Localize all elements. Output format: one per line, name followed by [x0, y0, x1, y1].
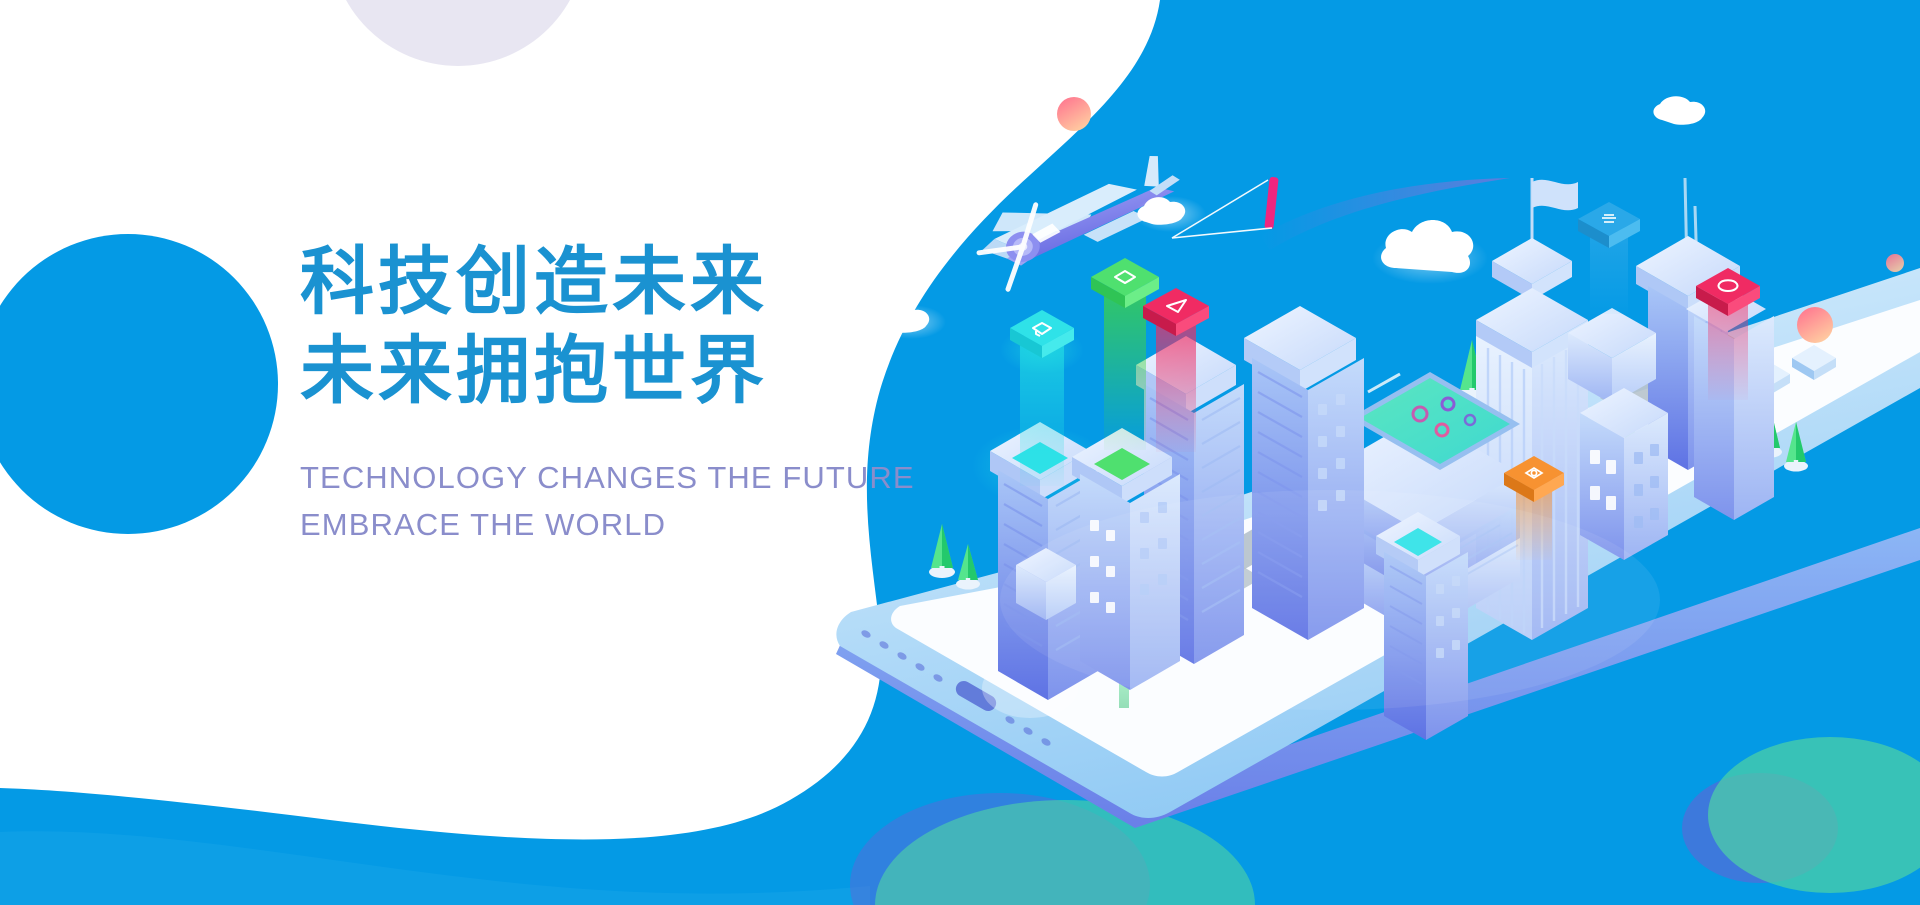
balloon-top	[1057, 97, 1091, 131]
headline-line-2: 未来拥抱世界	[300, 327, 920, 416]
marker-beam	[1156, 320, 1196, 452]
marker-beam	[1104, 292, 1146, 450]
flag	[1532, 180, 1578, 211]
subtitle-line-1: TECHNOLOGY CHANGES THE FUTURE	[300, 454, 920, 501]
building-stepped-right	[1568, 308, 1668, 560]
hero-text-block: 科技创造未来 未来拥抱世界 TECHNOLOGY CHANGES THE FUT…	[300, 238, 920, 548]
banner-stage: 科技创造未来 未来拥抱世界 TECHNOLOGY CHANGES THE FUT…	[0, 0, 1920, 905]
balloon-right	[1797, 307, 1833, 343]
subtitle-line-2: EMBRACE THE WORLD	[300, 501, 920, 548]
city-base-glow	[1000, 490, 1660, 710]
cloud-mid	[1134, 196, 1206, 232]
headline-line-1: 科技创造未来	[300, 238, 920, 327]
banner-illustration	[0, 0, 1920, 905]
balloon-small-right	[1886, 254, 1904, 272]
subtitle-block: TECHNOLOGY CHANGES THE FUTURE EMBRACE TH…	[300, 454, 920, 548]
